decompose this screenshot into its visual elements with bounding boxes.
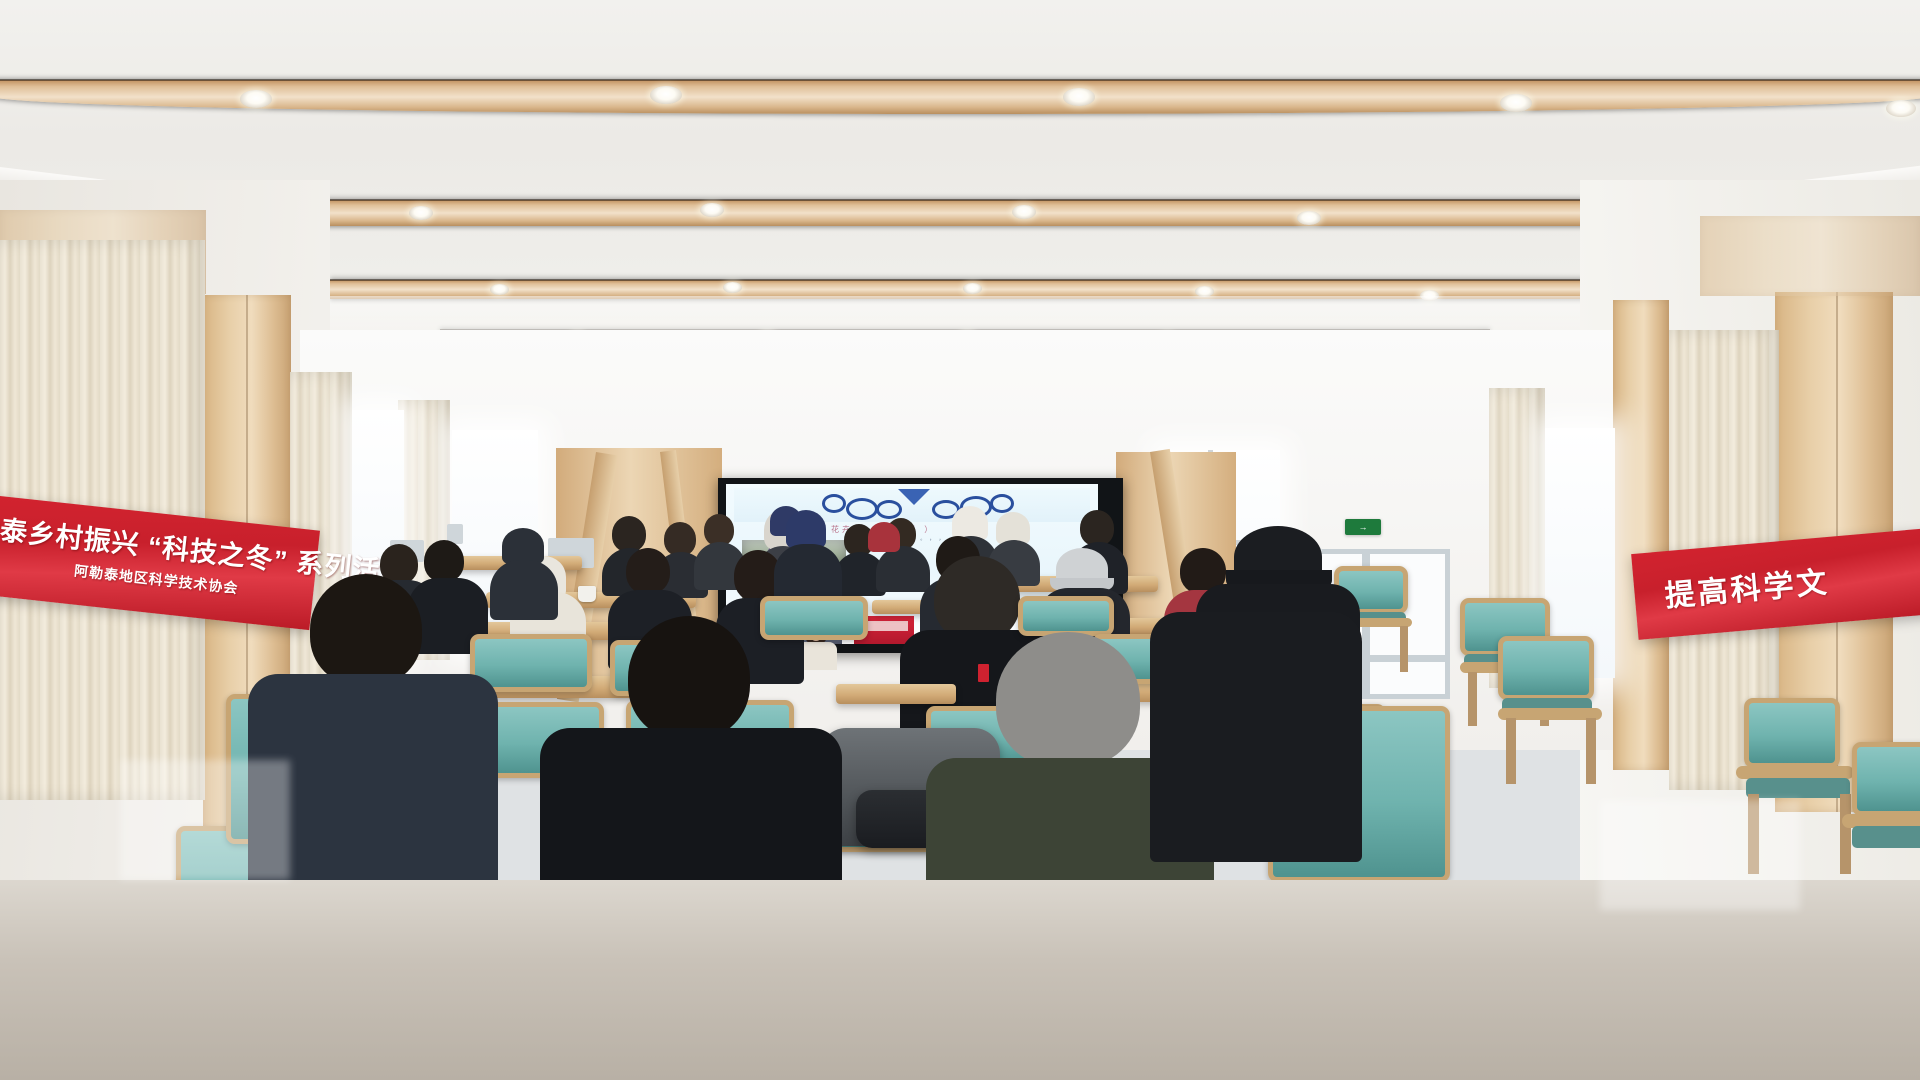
ceiling-beam-2-edge bbox=[150, 199, 1780, 201]
slide-ornament-triangle-icon bbox=[898, 489, 930, 505]
paper-cup[interactable] bbox=[578, 586, 596, 602]
table-row-front bbox=[836, 684, 956, 704]
slide-ornament-icon bbox=[846, 498, 878, 520]
downlight bbox=[723, 282, 742, 293]
downlight bbox=[1500, 94, 1532, 112]
emergency-exit-icon: → bbox=[1345, 519, 1381, 535]
downlight bbox=[963, 283, 982, 294]
downlight bbox=[1886, 100, 1916, 117]
jacket-logo-icon bbox=[978, 664, 989, 682]
floor-reflection bbox=[120, 760, 290, 880]
floor-reflection bbox=[1600, 800, 1800, 910]
downlight bbox=[1297, 211, 1321, 225]
wood-column-right-inner bbox=[1613, 300, 1669, 770]
floor bbox=[0, 880, 1920, 1080]
downlight bbox=[490, 284, 509, 295]
downlight bbox=[650, 86, 682, 104]
exit-arrow-glyph: → bbox=[1359, 523, 1368, 532]
downlight bbox=[1012, 205, 1036, 219]
downlight bbox=[240, 90, 272, 108]
wood-wall-right-upper bbox=[1700, 216, 1920, 296]
conference-room-photo: 特色种植、花卉水、养植（马 ） 【 】 ， 。 ， ， ， 。 ， ， ， ， … bbox=[0, 0, 1920, 1080]
downlight bbox=[700, 203, 724, 217]
slide-ornament-icon bbox=[990, 494, 1014, 513]
downlight bbox=[409, 206, 433, 220]
ceiling-beam-1 bbox=[0, 80, 1920, 114]
ceiling-beam-2 bbox=[150, 200, 1780, 226]
downlight bbox=[1063, 88, 1095, 106]
ceiling-beam-3-edge bbox=[330, 279, 1600, 281]
banner-right-line1: 提高科学文 bbox=[1663, 557, 1831, 615]
ceiling-beam-1-edge bbox=[0, 79, 1920, 81]
slide-ornament-icon bbox=[822, 494, 846, 513]
